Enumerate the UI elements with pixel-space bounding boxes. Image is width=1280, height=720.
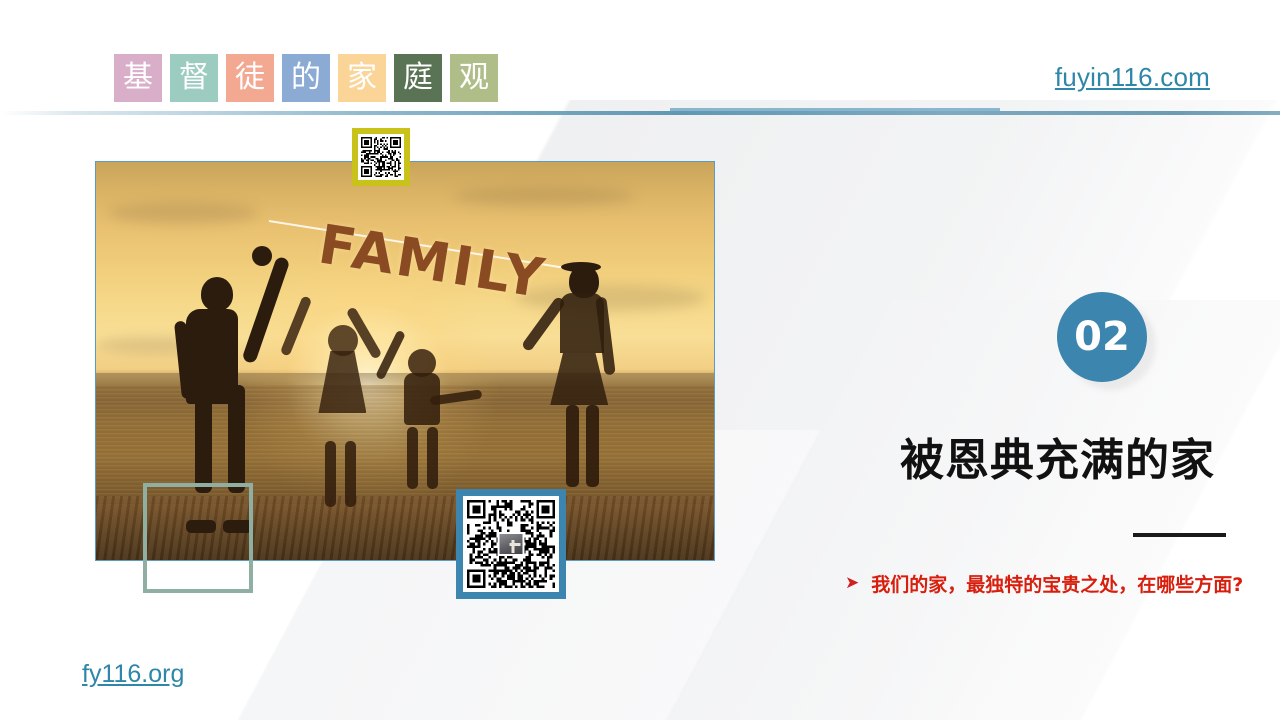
bullet-item-text: 我们的家，最独特的宝贵之处，在哪些方面?	[871, 570, 1243, 600]
slide-title-blocks: 基 督 徒 的 家 庭 观	[114, 54, 498, 102]
slide-canvas: 基 督 徒 的 家 庭 观 fuyin116.com FAMILY	[0, 0, 1280, 720]
section-number-badge: 02	[1057, 292, 1147, 382]
photo-boy-torso	[404, 373, 440, 425]
photo-father-head	[201, 277, 233, 311]
bullet-arrow-icon: ➤	[845, 570, 859, 596]
photo-girl-leg	[325, 441, 336, 507]
section-divider	[1133, 533, 1226, 537]
footer-site-link[interactable]: fy116.org	[82, 660, 184, 689]
title-char-block: 基	[114, 54, 162, 102]
photo-girl-leg	[345, 441, 356, 507]
title-char-block: 庭	[394, 54, 442, 102]
photo-mother-leg	[586, 405, 599, 487]
section-heading: 被恩典充满的家	[900, 424, 1215, 488]
qr-code-center-logo-icon	[498, 532, 525, 556]
photo-father-leg	[228, 385, 245, 493]
title-char: 家	[347, 63, 377, 93]
title-char: 基	[123, 63, 153, 93]
photo-father-fist	[252, 246, 272, 266]
title-char: 督	[179, 63, 209, 93]
title-char: 的	[291, 63, 321, 93]
photo-boy-leg	[427, 427, 438, 489]
photo-mother-leg	[566, 405, 579, 487]
photo-mother-torso	[560, 293, 604, 353]
photo-cloud	[454, 186, 634, 206]
title-char: 观	[459, 63, 489, 93]
section-number-text: 02	[1074, 314, 1130, 360]
title-char-block: 家	[338, 54, 386, 102]
title-char: 庭	[403, 63, 433, 93]
title-char: 徒	[235, 63, 265, 93]
green-square-outline	[143, 483, 253, 593]
header-site-link[interactable]: fuyin116.com	[1055, 62, 1210, 93]
header-divider	[0, 111, 1280, 115]
qr-code-top[interactable]	[352, 128, 410, 186]
title-char-block: 徒	[226, 54, 274, 102]
photo-boy-leg	[407, 427, 418, 489]
title-char-block: 督	[170, 54, 218, 102]
qr-code-top-image	[361, 137, 401, 177]
photo-cloud	[108, 202, 258, 224]
title-char-block: 的	[282, 54, 330, 102]
bullet-item: ➤ 我们的家，最独特的宝贵之处，在哪些方面?	[845, 570, 1245, 600]
qr-code-main[interactable]	[456, 489, 566, 599]
photo-father-leg	[195, 385, 212, 493]
title-char-block: 观	[450, 54, 498, 102]
